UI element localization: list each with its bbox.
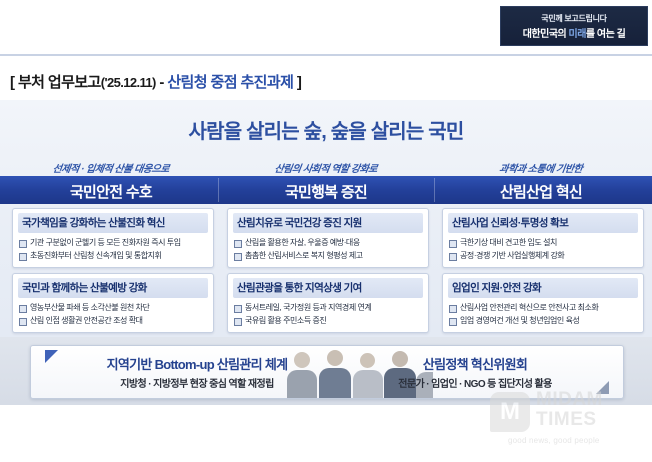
task-bullet-text: 산림사업 안전관리 혁신으로 안전사고 최소화 — [460, 301, 598, 314]
task-bullet: 국유림 활용 주민소득 증진 — [233, 314, 423, 327]
badge-text-c: 를 여는 길 — [586, 29, 625, 40]
script-subtitle-1: 선제적 · 입체적 산불 대응으로 — [9, 160, 213, 175]
task-card[interactable]: 임업인 지원·안전 강화 산림사업 안전관리 혁신으로 안전사고 최소화 임업 … — [442, 273, 644, 333]
bracket-close: ] — [293, 74, 301, 91]
task-bullet-text: 산림을 활용한 자살, 우울증 예방·대응 — [245, 236, 360, 249]
task-card-title: 국민과 함께하는 산불예방 강화 — [18, 278, 208, 298]
pillar-heading-2: 국민행복 증진 — [225, 181, 427, 202]
task-bullet-text: 임업 경영여건 개선 및 청년임업인 육성 — [460, 314, 579, 327]
checkbox-icon — [234, 240, 242, 248]
header-divider — [0, 54, 652, 56]
bracket-open: [ — [10, 74, 18, 91]
checkbox-icon — [234, 305, 242, 313]
checkbox-icon — [449, 318, 457, 326]
task-bullet: 공정·경쟁 기반 사업실행체계 강화 — [448, 249, 638, 262]
task-bullet: 산림 인접 생활권 안전공간 조성 확대 — [18, 314, 208, 327]
task-bullet-text: 극한기상 대비 견고한 임도 설치 — [460, 236, 557, 249]
checkbox-icon — [449, 253, 457, 261]
checkbox-icon — [19, 318, 27, 326]
badge-text-highlight: 미래 — [569, 29, 586, 40]
poster-root: 국민께 보고드립니다 대한민국의 미래를 여는 길 [ 부처 업무보고('25.… — [0, 0, 652, 462]
checkbox-icon — [449, 240, 457, 248]
task-bullet-text: 국유림 활용 주민소득 증진 — [245, 314, 326, 327]
task-bullet: 임업 경영여건 개선 및 청년임업인 육성 — [448, 314, 638, 327]
checkbox-icon — [19, 240, 27, 248]
task-bullet: 기관 구분없이 군헬기 등 모든 진화자원 즉시 투입 — [18, 236, 208, 249]
pillar-heading-3: 산림산업 혁신 — [440, 181, 642, 202]
task-bullet: 촘촘한 산림서비스로 복지 형평성 제고 — [233, 249, 423, 262]
task-card-title: 산림관광을 통한 지역상생 기여 — [233, 278, 423, 298]
governance-right-title: 산림정책 혁신위원회 — [423, 354, 527, 373]
checkbox-icon — [449, 305, 457, 313]
report-title-accent: 산림청 중점 추진과제 — [167, 74, 293, 91]
report-title-date: ('25.12.11) — [101, 75, 156, 90]
task-bullet-text: 촘촘한 산림서비스로 복지 형평성 제고 — [245, 249, 363, 262]
task-card-title: 산림치유로 국민건강 증진 지원 — [233, 213, 423, 233]
footer-area — [0, 405, 652, 462]
task-bullet-text: 산림 인접 생활권 안전공간 조성 확대 — [30, 314, 143, 327]
badge-text-a: 대한민국의 — [523, 29, 569, 40]
task-bullet-text: 동서트레일, 국가정원 등과 지역경제 연계 — [245, 301, 371, 314]
script-subtitle-3: 과학과 소통에 기반한 — [439, 160, 643, 175]
task-bullet-text: 공정·경쟁 기반 사업실행체계 강화 — [460, 249, 564, 262]
pillar-column-2: 산림치유로 국민건강 증진 지원 산림을 활용한 자살, 우울증 예방·대응 촘… — [227, 208, 429, 338]
task-bullet: 산림을 활용한 자살, 우울증 예방·대응 — [233, 236, 423, 249]
governance-right: 산림정책 혁신위원회 전문가 · 임업인 · NGO 등 집단지성 활용 — [327, 346, 623, 398]
report-title-prefix: 부처 업무보고 — [18, 74, 101, 91]
report-title-dash: - — [156, 74, 168, 91]
band-divider-1 — [218, 178, 219, 202]
governance-left-subtitle: 지방청 · 지방정부 현장 중심 역할 재정립 — [120, 375, 273, 390]
task-bullet: 초동진화부터 산림청 신속개입 및 통합지휘 — [18, 249, 208, 262]
checkbox-icon — [234, 253, 242, 261]
task-card-title: 국가책임을 강화하는 산불진화 혁신 — [18, 213, 208, 233]
governance-left-title: 지역기반 Bottom-up 산림관리 체계 — [107, 354, 288, 373]
task-card[interactable]: 산림관광을 통한 지역상생 기여 동서트레일, 국가정원 등과 지역경제 연계 … — [227, 273, 429, 333]
badge-line-2: 대한민국의 미래를 여는 길 — [523, 25, 626, 40]
governance-right-subtitle: 전문가 · 임업인 · NGO 등 집단지성 활용 — [398, 375, 552, 390]
top-strip: 국민께 보고드립니다 대한민국의 미래를 여는 길 — [0, 0, 652, 55]
government-badge: 국민께 보고드립니다 대한민국의 미래를 여는 길 — [500, 6, 648, 46]
checkbox-icon — [19, 253, 27, 261]
pillar-heading-1: 국민안전 수호 — [10, 181, 212, 202]
pillar-column-1: 국가책임을 강화하는 산불진화 혁신 기관 구분없이 군헬기 등 모든 진화자원… — [12, 208, 214, 338]
task-bullet: 영농부산물 파쇄 등 소각산불 원천 차단 — [18, 301, 208, 314]
task-card[interactable]: 산림치유로 국민건강 증진 지원 산림을 활용한 자살, 우울증 예방·대응 촘… — [227, 208, 429, 268]
task-bullet: 산림사업 안전관리 혁신으로 안전사고 최소화 — [448, 301, 638, 314]
task-bullet-text: 영농부산물 파쇄 등 소각산불 원천 차단 — [30, 301, 149, 314]
task-bullet-text: 초동진화부터 산림청 신속개입 및 통합지휘 — [30, 249, 161, 262]
checkbox-icon — [19, 305, 27, 313]
task-bullet: 동서트레일, 국가정원 등과 지역경제 연계 — [233, 301, 423, 314]
task-card[interactable]: 국민과 함께하는 산불예방 강화 영농부산물 파쇄 등 소각산불 원천 차단 산… — [12, 273, 214, 333]
checkbox-icon — [234, 318, 242, 326]
task-bullet-text: 기관 구분없이 군헬기 등 모든 진화자원 즉시 투입 — [30, 236, 181, 249]
report-title: [ 부처 업무보고('25.12.11) - 산림청 중점 추진과제 ] — [10, 71, 301, 92]
task-card[interactable]: 국가책임을 강화하는 산불진화 혁신 기관 구분없이 군헬기 등 모든 진화자원… — [12, 208, 214, 268]
band-divider-2 — [434, 178, 435, 202]
task-card-title: 임업인 지원·안전 강화 — [448, 278, 638, 298]
badge-line-1: 국민께 보고드립니다 — [541, 13, 606, 24]
pillar-column-3: 산림사업 신뢰성·투명성 확보 극한기상 대비 견고한 임도 설치 공정·경쟁 … — [442, 208, 644, 338]
task-bullet: 극한기상 대비 견고한 임도 설치 — [448, 236, 638, 249]
main-slogan: 사람을 살리는 숲, 숲을 살리는 국민 — [0, 115, 652, 144]
task-card-title: 산림사업 신뢰성·투명성 확보 — [448, 213, 638, 233]
task-card[interactable]: 산림사업 신뢰성·투명성 확보 극한기상 대비 견고한 임도 설치 공정·경쟁 … — [442, 208, 644, 268]
script-subtitle-2: 산림의 사회적 역할 강화로 — [224, 160, 428, 175]
governance-card[interactable]: 지역기반 Bottom-up 산림관리 체계 지방청 · 지방정부 현장 중심 … — [30, 345, 624, 399]
